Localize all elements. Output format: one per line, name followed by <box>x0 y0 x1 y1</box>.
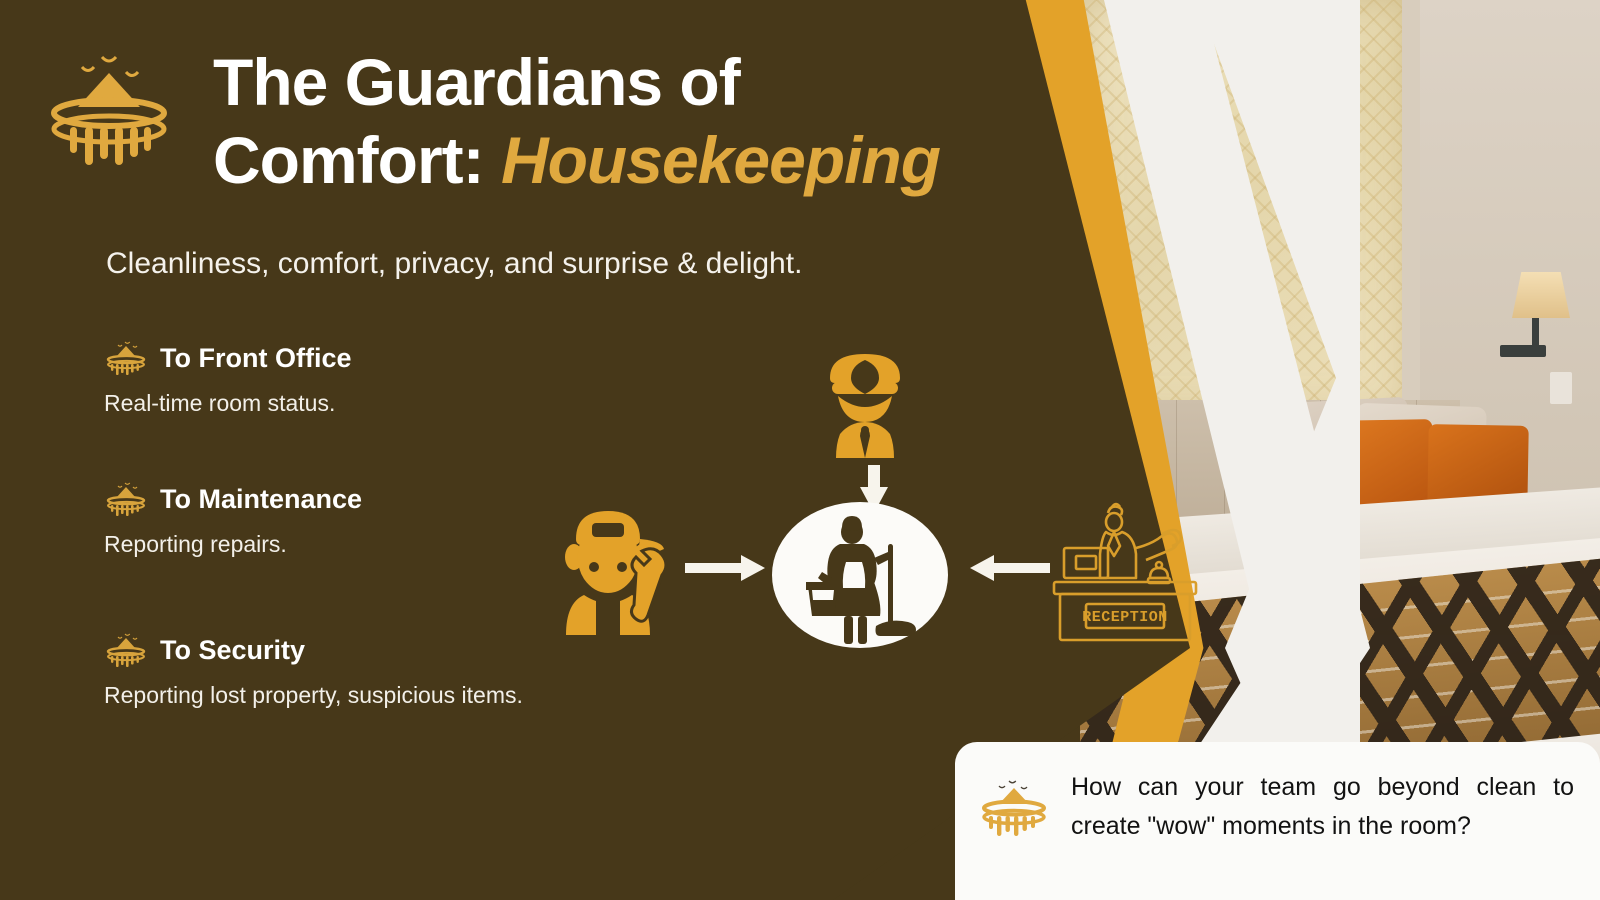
pavilion-logo-icon <box>977 774 1051 848</box>
question-callout: How can your team go beyond clean to cre… <box>955 742 1600 900</box>
arrow-right-icon <box>685 555 765 581</box>
pavilion-icon <box>104 481 148 517</box>
list-item-maintenance: To Maintenance Reporting repairs. <box>104 481 604 561</box>
photo-light-switch <box>1550 372 1572 404</box>
list-item-body: Reporting lost property, suspicious item… <box>104 679 604 712</box>
reception-sign-label: RECEPTION <box>1082 609 1168 626</box>
security-guard-icon <box>810 338 920 458</box>
list-item-header: To Maintenance <box>104 481 604 517</box>
list-item-header: To Security <box>104 632 604 668</box>
photo-lamp-shade <box>1512 272 1570 318</box>
title-line-2: Comfort: Housekeeping <box>213 122 1003 200</box>
list-item-front-office: To Front Office Real-time room status. <box>104 340 604 420</box>
list-item-title: To Front Office <box>160 343 351 374</box>
title-line-2-plain: Comfort: <box>213 123 484 197</box>
housekeeper-icon <box>770 500 950 650</box>
list-item-security: To Security Reporting lost property, sus… <box>104 632 604 712</box>
title-line-2-accent: Housekeeping <box>501 123 940 197</box>
list-item-body: Real-time room status. <box>104 387 604 420</box>
pavilion-icon <box>104 632 148 668</box>
list-item-header: To Front Office <box>104 340 604 376</box>
pavilion-logo-icon <box>44 45 174 165</box>
maintenance-worker-icon <box>540 495 676 635</box>
list-item-title: To Maintenance <box>160 484 362 515</box>
arrow-left-icon <box>970 555 1050 581</box>
title-line-1: The Guardians of <box>213 44 1003 122</box>
list-item-title: To Security <box>160 635 305 666</box>
photo-wall-sconce-arm <box>1500 345 1546 357</box>
list-item-body: Reporting repairs. <box>104 528 604 561</box>
page-title: The Guardians of Comfort: Housekeeping <box>213 44 1003 200</box>
slide-root: The Guardians of Comfort: Housekeeping C… <box>0 0 1600 900</box>
reception-desk-icon: RECEPTION <box>1050 500 1200 645</box>
housekeeping-relationship-diagram: RECEPTION <box>530 320 1210 680</box>
page-subtitle: Cleanliness, comfort, privacy, and surpr… <box>106 247 1006 281</box>
pavilion-icon <box>104 340 148 376</box>
callout-text: How can your team go beyond clean to cre… <box>1071 768 1574 846</box>
